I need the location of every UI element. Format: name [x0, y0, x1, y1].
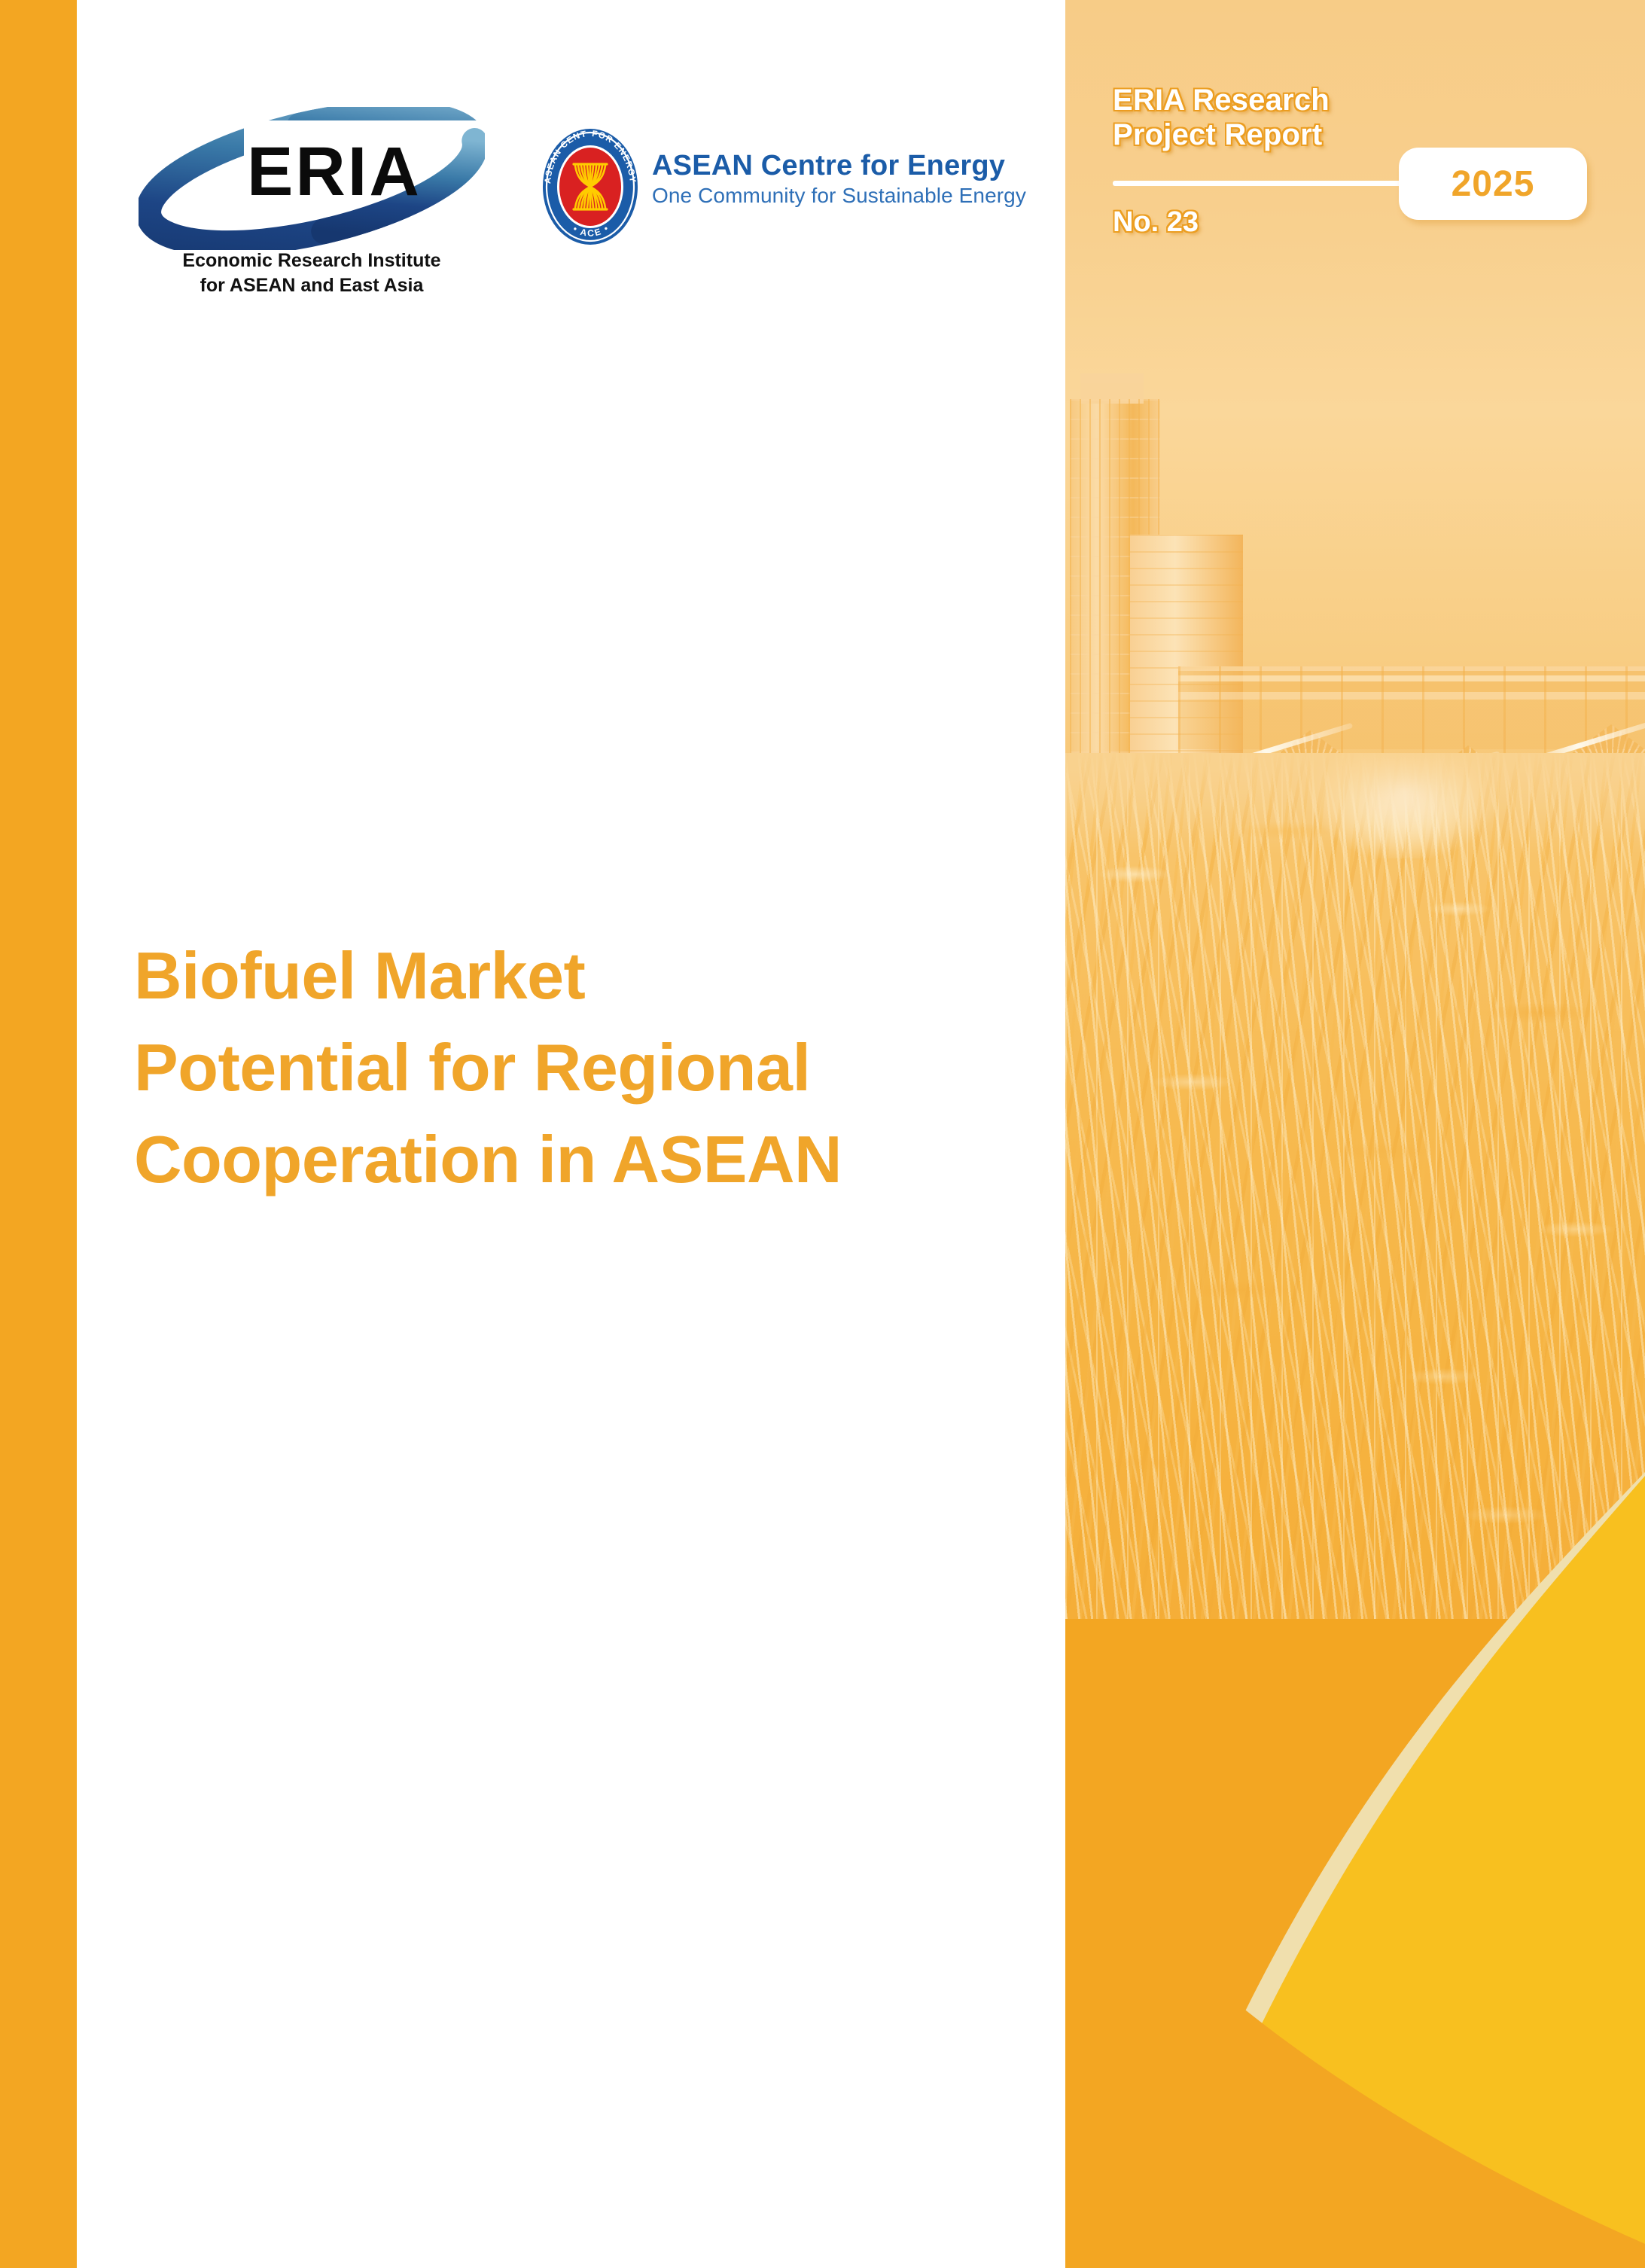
ace-subtitle: One Community for Sustainable Energy	[652, 182, 1036, 209]
year-badge-label: 2025	[1452, 163, 1535, 205]
cover-title: Biofuel Market Potential for Regional Co…	[134, 930, 1007, 1206]
eria-tagline-line1: Economic Research Institute	[139, 248, 485, 273]
eria-tagline: Economic Research Institute for ASEAN an…	[139, 248, 485, 298]
cover-title-line1: Biofuel Market	[134, 930, 1007, 1022]
report-series-line1: ERIA Research	[1113, 83, 1429, 117]
cover-title-line3: Cooperation in ASEAN	[134, 1114, 1007, 1206]
ace-logotype: ASEAN Centre for Energy One Community fo…	[652, 149, 1036, 209]
right-artwork-panel	[1065, 0, 1645, 2268]
eria-wordmark: ERIA	[247, 137, 422, 206]
corn-top-fade	[1065, 753, 1645, 843]
left-orange-stripe	[0, 0, 77, 2268]
eria-tagline-line2: for ASEAN and East Asia	[139, 273, 485, 298]
cover-page: ERIA Research Project Report No. 23 2025	[0, 0, 1645, 2268]
ace-title: ASEAN Centre for Energy	[652, 149, 1036, 182]
ace-logo: ASEAN CENTRE FOR ENERGY • ACE • ASEAN Ce…	[541, 127, 1037, 255]
asean-rice-stalk-emblem-icon: ASEAN CENTRE FOR ENERGY • ACE •	[541, 127, 640, 247]
report-series-heading: ERIA Research Project Report	[1113, 83, 1429, 152]
report-series-line2: Project Report	[1113, 117, 1429, 152]
bottom-swoosh-graphic	[1065, 1431, 1645, 2268]
eria-logo: ERIA Economic Research Institute for ASE…	[139, 107, 485, 310]
year-badge: 2025	[1399, 148, 1587, 220]
report-number: No. 23	[1113, 206, 1199, 239]
cover-title-line2: Potential for Regional	[134, 1022, 1007, 1114]
